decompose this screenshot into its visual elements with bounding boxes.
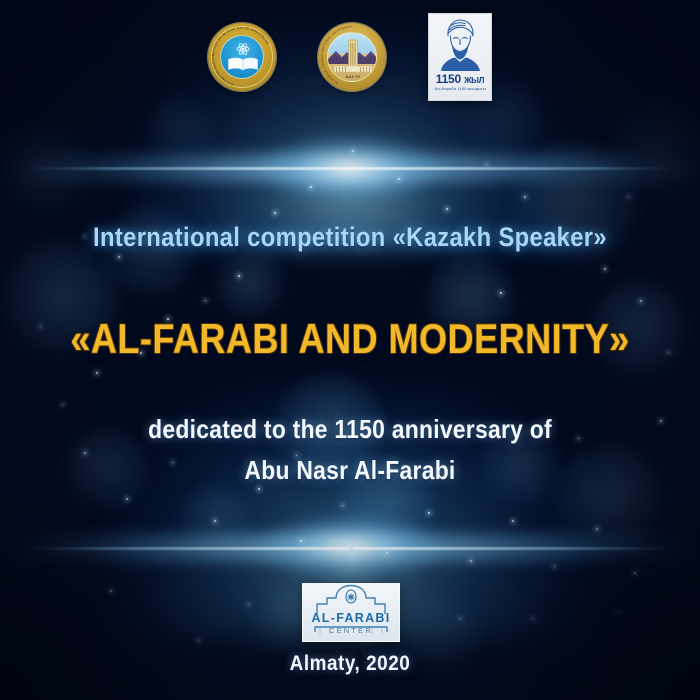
farabi-year-number: 1150 ЖЫЛ <box>436 73 484 85</box>
dedication-line-2: Abu Nasr Al-Farabi <box>42 455 658 486</box>
city-year-label: Almaty, 2020 <box>35 652 665 676</box>
farabi-anniversary-card: 1150 ЖЫЛ Әл-Фараби 1150 жылдығы <box>428 13 492 101</box>
tower-mountains-icon: KAZ YY <box>328 33 377 82</box>
dedication-line-1: dedicated to the 1150 anniversary of <box>42 414 658 445</box>
competition-subtitle: International competition «Kazakh Speake… <box>42 222 658 253</box>
center-logo-name: AL-FARABI <box>303 612 399 625</box>
page-title: «AL-FARABI AND MODERNITY» <box>49 315 651 363</box>
farabi-anniversary-logo: 1150 ЖЫЛ Әл-Фараби 1150 жылдығы <box>428 13 492 101</box>
logo-row: QAZAQSTAN RESPUBLIKASY BILIM JANE GYLYM … <box>0 12 700 102</box>
poster-canvas: QAZAQSTAN RESPUBLIKASY BILIM JANE GYLYM … <box>0 0 700 700</box>
svg-text:KAZ YY: KAZ YY <box>346 74 361 79</box>
al-farabi-portrait-icon <box>432 14 488 72</box>
farabi-year-unit: ЖЫЛ <box>464 76 484 85</box>
al-farabi-center-logo: AL-FARABI CENTER <box>302 583 400 642</box>
university-emblem: AL-FARABI KAZAKH NATIONAL UNIVERSITY <box>318 23 386 91</box>
open-book-atom-icon <box>221 36 264 79</box>
university-emblem-ring: AL-FARABI KAZAKH NATIONAL UNIVERSITY <box>318 23 386 91</box>
ministry-emblem-inner <box>220 35 264 79</box>
center-logo-subtitle: CENTER <box>303 627 399 635</box>
ministry-emblem-ring: QAZAQSTAN RESPUBLIKASY BILIM JANE GYLYM … <box>208 23 276 91</box>
university-emblem-inner: KAZ YY <box>327 32 377 82</box>
ministry-emblem: QAZAQSTAN RESPUBLIKASY BILIM JANE GYLYM … <box>208 23 276 91</box>
farabi-caption: Әл-Фараби 1150 жылдығы <box>434 87 485 91</box>
